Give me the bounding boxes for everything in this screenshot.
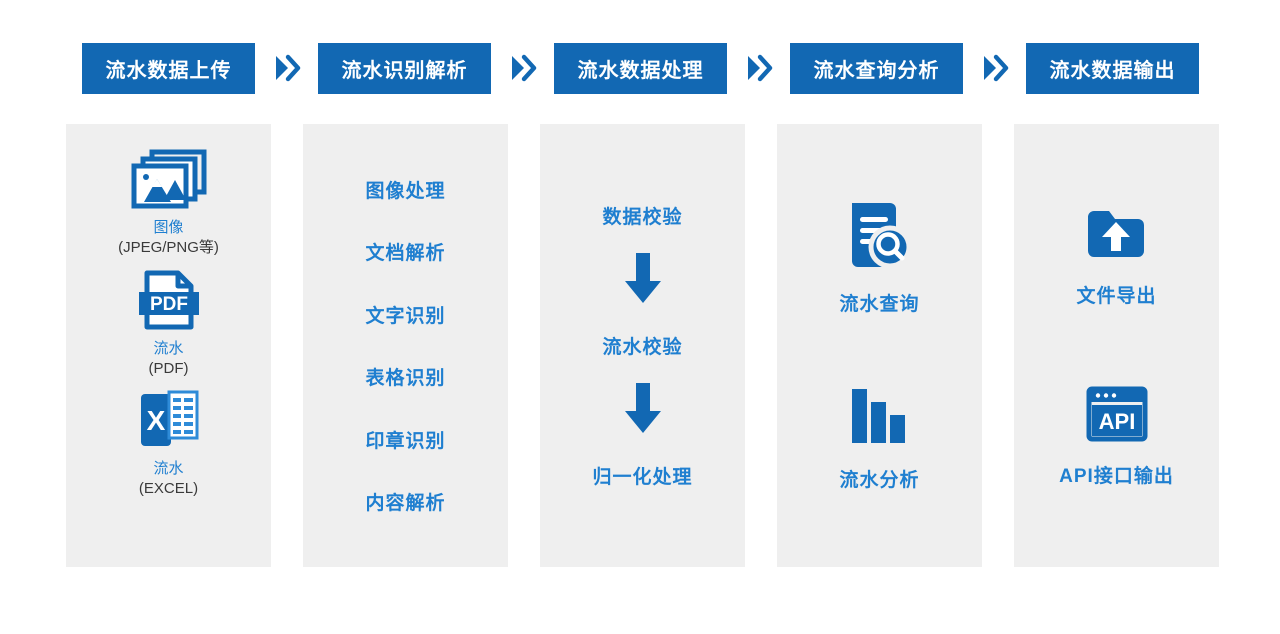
panel-process: 数据校验 流水校验 归一化处理: [540, 124, 745, 567]
arrow-down-icon: [623, 381, 663, 440]
double-chevron-right-icon: [270, 51, 304, 85]
stage-separator-4: [963, 43, 1026, 94]
layout-spacer: [508, 124, 540, 567]
recognize-item-content-parsing[interactable]: 内容解析: [303, 471, 508, 534]
double-chevron-right-icon: [978, 51, 1012, 85]
recognize-item-label: 内容解析: [365, 488, 445, 515]
output-item-file-export[interactable]: 文件导出: [1076, 164, 1156, 347]
stage-header-label: 流水数据上传: [106, 54, 232, 83]
stage-header-recognize[interactable]: 流水识别解析: [318, 43, 491, 94]
stage-separator-1: [255, 43, 318, 94]
panel-upload: 图像 (JPEG/PNG等) PDF 流水 (PDF): [66, 124, 271, 567]
arrow-down-icon: [623, 251, 663, 310]
panel-output: 文件导出 API API接口输出: [1014, 124, 1219, 567]
process-arrow-2: [623, 381, 663, 440]
svg-text:PDF: PDF: [150, 294, 188, 315]
recognize-item-label: 文档解析: [365, 238, 445, 265]
file-type-sublabel: (PDF): [149, 359, 189, 379]
recognize-item-text-recognition[interactable]: 文字识别: [303, 283, 508, 346]
svg-text:X: X: [146, 405, 165, 436]
file-type-label: 流水: [153, 459, 183, 479]
file-type-image[interactable]: 图像 (JPEG/PNG等): [118, 148, 219, 259]
layout-spacer: [0, 124, 66, 567]
process-arrow-1: [623, 251, 663, 310]
stage-header-query[interactable]: 流水查询分析: [790, 43, 963, 94]
file-type-sublabel: (JPEG/PNG等): [118, 238, 219, 258]
recognize-item-label: 表格识别: [365, 363, 445, 390]
image-stack-icon: [130, 148, 208, 210]
stage-header-row: 流水数据上传 流水识别解析 流水数据处理: [0, 42, 1280, 94]
file-type-pdf[interactable]: PDF 流水 (PDF): [134, 269, 204, 380]
output-item-caption: 文件导出: [1076, 281, 1156, 308]
query-item-caption: 流水查询: [839, 289, 919, 316]
process-step-normalization[interactable]: 归一化处理: [592, 462, 692, 489]
stage-separator-3: [727, 43, 790, 94]
bar-chart-icon: [848, 385, 910, 447]
stage-panel-row: 图像 (JPEG/PNG等) PDF 流水 (PDF): [0, 124, 1280, 567]
layout-spacer: [745, 124, 777, 567]
recognize-item-image-processing[interactable]: 图像处理: [303, 158, 508, 221]
process-step-label: 归一化处理: [592, 467, 692, 488]
process-step-label: 流水校验: [602, 337, 682, 358]
recognize-item-table-recognition[interactable]: 表格识别: [303, 346, 508, 409]
stage-header-upload[interactable]: 流水数据上传: [82, 43, 255, 94]
double-chevron-right-icon: [742, 51, 776, 85]
query-item-statement-search[interactable]: 流水查询: [839, 164, 919, 351]
query-item-statement-analysis[interactable]: 流水分析: [839, 351, 919, 528]
stage-separator-2: [491, 43, 554, 94]
file-type-label: 图像: [153, 218, 183, 238]
panel-recognize: 图像处理 文档解析 文字识别 表格识别 印章识别 内容解析: [303, 124, 508, 567]
document-search-icon: [846, 199, 912, 271]
layout-spacer: [271, 124, 303, 567]
process-step-data-validation[interactable]: 数据校验: [602, 202, 682, 229]
recognize-item-label: 图像处理: [365, 176, 445, 203]
layout-spacer: [982, 124, 1014, 567]
double-chevron-right-icon: [506, 51, 540, 85]
query-item-caption: 流水分析: [839, 465, 919, 492]
stage-header-output[interactable]: 流水数据输出: [1026, 43, 1199, 94]
process-flow-diagram: 流水数据上传 流水识别解析 流水数据处理: [0, 0, 1280, 634]
folder-upload-icon: [1084, 203, 1148, 263]
stage-header-label: 流水数据处理: [578, 54, 704, 83]
recognize-item-label: 文字识别: [365, 301, 445, 328]
process-step-label: 数据校验: [602, 207, 682, 228]
stage-header-label: 流水查询分析: [814, 54, 940, 83]
output-item-api-export[interactable]: API API接口输出: [1059, 347, 1174, 528]
output-item-caption: API接口输出: [1059, 461, 1174, 488]
panel-query: 流水查询 流水分析: [777, 124, 982, 567]
stage-header-label: 流水识别解析: [342, 54, 468, 83]
file-type-label: 流水: [153, 339, 183, 359]
excel-file-icon: X: [137, 389, 201, 451]
pdf-file-icon: PDF: [134, 269, 204, 331]
svg-text:API: API: [1098, 409, 1135, 434]
process-step-statement-validation[interactable]: 流水校验: [602, 332, 682, 359]
recognize-item-document-parsing[interactable]: 文档解析: [303, 221, 508, 284]
stage-header-process[interactable]: 流水数据处理: [554, 43, 727, 94]
recognize-item-seal-recognition[interactable]: 印章识别: [303, 408, 508, 471]
api-window-icon: API: [1085, 385, 1149, 443]
file-type-excel[interactable]: X 流水 (EXCEL): [137, 389, 201, 500]
file-type-sublabel: (EXCEL): [139, 479, 198, 499]
recognize-item-label: 印章识别: [365, 426, 445, 453]
stage-header-label: 流水数据输出: [1050, 54, 1176, 83]
